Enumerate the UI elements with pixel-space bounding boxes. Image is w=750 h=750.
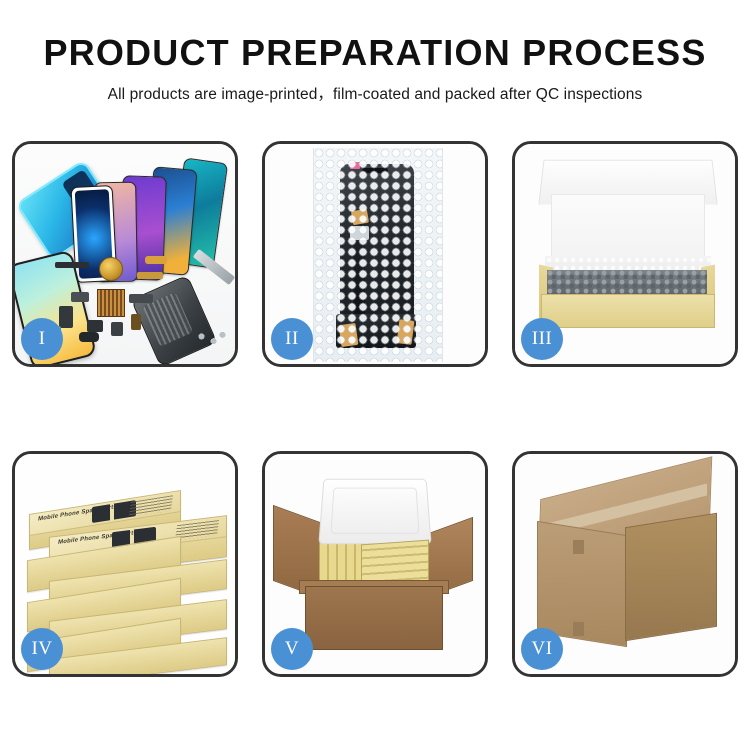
phone-back-housing-icon bbox=[131, 275, 218, 364]
step-badge-2: II bbox=[271, 318, 313, 360]
bubble-wrap-bag bbox=[313, 148, 443, 362]
spare-part-icon bbox=[111, 322, 123, 336]
step-panel-6: VI bbox=[512, 451, 738, 677]
step-badge-4: IV bbox=[21, 628, 63, 670]
page-subtitle: All products are image-printed，film-coat… bbox=[0, 82, 750, 104]
poster-header: PRODUCT PREPARATION PROCESS All products… bbox=[0, 0, 750, 104]
spare-part-icon bbox=[137, 272, 163, 279]
step-panel-5: V bbox=[262, 451, 488, 677]
carton-right-face bbox=[625, 513, 717, 642]
chip-part-icon bbox=[97, 289, 125, 317]
styrofoam-lid bbox=[318, 479, 431, 545]
screws-icon bbox=[197, 330, 227, 346]
product-preparation-poster: PRODUCT PREPARATION PROCESS All products… bbox=[0, 0, 750, 750]
kraft-box-front-panel bbox=[541, 294, 715, 328]
step-panel-4: Mobile Phone Spare Parts Mobile Phone Sp… bbox=[12, 451, 238, 677]
step-badge-6: VI bbox=[521, 628, 563, 670]
spare-part-icon bbox=[131, 314, 141, 330]
box-spec-lines bbox=[175, 520, 219, 540]
speaker-coil-part-icon bbox=[99, 257, 123, 281]
box-spec-lines bbox=[129, 495, 173, 517]
carton-seam-mark bbox=[573, 540, 584, 554]
step-badge-1: I bbox=[21, 318, 63, 360]
step-panel-1: I bbox=[12, 141, 238, 367]
step-panel-2: II bbox=[262, 141, 488, 367]
carton-seam-mark bbox=[573, 622, 584, 636]
carton-front-panel bbox=[305, 586, 443, 650]
bubble-wrap-texture bbox=[314, 148, 442, 362]
step-panel-3: III bbox=[512, 141, 738, 367]
spare-part-icon bbox=[59, 306, 73, 328]
spare-part-icon bbox=[79, 332, 99, 342]
page-title: PRODUCT PREPARATION PROCESS bbox=[0, 34, 750, 72]
step-badge-3: III bbox=[521, 318, 563, 360]
spare-part-icon bbox=[145, 256, 167, 264]
spare-part-icon bbox=[129, 294, 153, 303]
spare-part-icon bbox=[71, 292, 89, 302]
spare-part-icon bbox=[87, 320, 103, 332]
process-steps-grid: I II bbox=[12, 141, 738, 677]
step-badge-5: V bbox=[271, 628, 313, 670]
spare-part-icon bbox=[55, 262, 89, 268]
